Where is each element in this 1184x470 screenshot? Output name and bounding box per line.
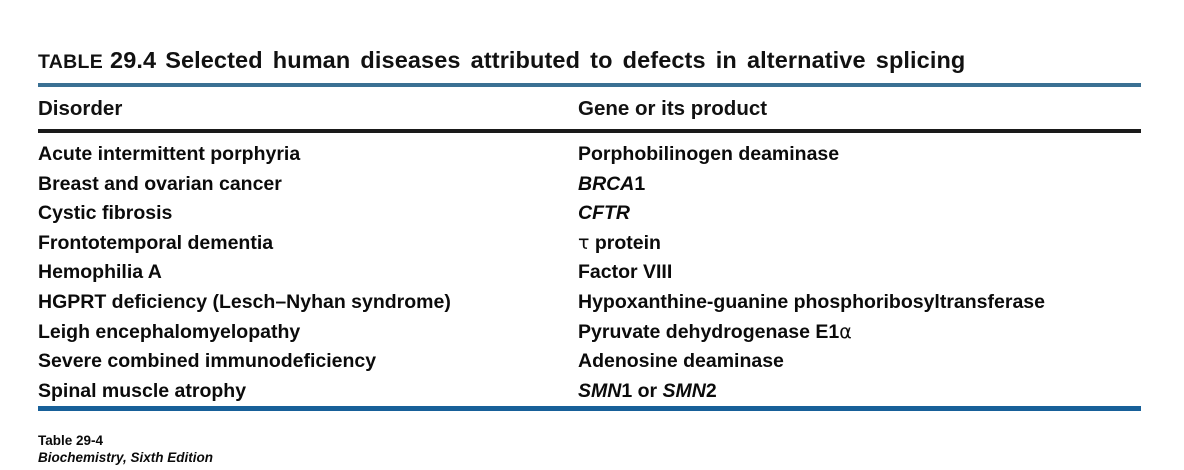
cell-gene-suffix: 2 xyxy=(706,380,717,402)
table-row: Hemophilia A Factor VIII xyxy=(38,260,1141,290)
cell-gene-italic: BRCA xyxy=(578,173,634,195)
figure-caption: Table 29-4 Biochemistry, Sixth Edition xyxy=(38,432,638,466)
cell-gene-plain: Pyruvate dehydrogenase E1α xyxy=(578,321,852,343)
cell-gene-plain: Hypoxanthine-guanine phosphoribosyltrans… xyxy=(578,291,1045,313)
table-column-headers: Disorder Gene or its product xyxy=(38,96,1141,126)
cell-disorder: HGPRT deficiency (Lesch–Nyhan syndrome) xyxy=(38,290,451,315)
cell-gene: CFTR xyxy=(578,201,630,226)
cell-gene-plain: 1 xyxy=(634,173,645,195)
table-row: Frontotemporal dementia τ protein xyxy=(38,231,1141,261)
greek-letter: α xyxy=(839,321,852,343)
table-row: Cystic fibrosis CFTR xyxy=(38,201,1141,231)
cell-gene-plain: Factor VIII xyxy=(578,261,672,283)
cell-gene-italic: SMN xyxy=(578,380,621,402)
rule-header-divider xyxy=(38,129,1141,133)
caption-source: Biochemistry, Sixth Edition xyxy=(38,449,638,466)
column-header-gene: Gene or its product xyxy=(578,96,767,122)
table-row: Severe combined immunodeficiency Adenosi… xyxy=(38,349,1141,379)
table-title-text: Selected human diseases attributed to de… xyxy=(165,47,965,73)
rule-top xyxy=(38,83,1141,87)
cell-disorder: Frontotemporal dementia xyxy=(38,231,273,256)
table-row: HGPRT deficiency (Lesch–Nyhan syndrome) … xyxy=(38,290,1141,320)
table-title: TABLE29.4Selected human diseases attribu… xyxy=(38,45,1148,77)
cell-disorder: Cystic fibrosis xyxy=(38,201,172,226)
cell-disorder: Spinal muscle atrophy xyxy=(38,379,246,404)
cell-gene: Factor VIII xyxy=(578,260,672,285)
cell-gene: Adenosine deaminase xyxy=(578,349,784,374)
cell-gene: Porphobilinogen deaminase xyxy=(578,142,839,167)
caption-table-number: Table 29-4 xyxy=(38,432,638,449)
cell-gene: τ protein xyxy=(578,231,661,256)
cell-gene: Hypoxanthine-guanine phosphoribosyltrans… xyxy=(578,290,1045,315)
cell-gene-plain: τ protein xyxy=(578,232,661,254)
cell-disorder: Leigh encephalomyelopathy xyxy=(38,320,300,345)
cell-gene-italic-2: SMN xyxy=(663,380,706,402)
cell-gene: SMN1 or SMN2 xyxy=(578,379,717,404)
table-body: Acute intermittent porphyria Porphobilin… xyxy=(38,142,1141,408)
column-header-disorder: Disorder xyxy=(38,96,122,122)
table-figure: TABLE29.4Selected human diseases attribu… xyxy=(0,0,1184,470)
cell-gene-plain: Adenosine deaminase xyxy=(578,350,784,372)
rule-bottom xyxy=(38,406,1141,411)
cell-gene: Pyruvate dehydrogenase E1α xyxy=(578,320,852,345)
cell-gene-plain: Porphobilinogen deaminase xyxy=(578,143,839,165)
cell-disorder: Breast and ovarian cancer xyxy=(38,172,282,197)
cell-disorder: Severe combined immunodeficiency xyxy=(38,349,376,374)
cell-disorder: Hemophilia A xyxy=(38,260,162,285)
cell-disorder: Acute intermittent porphyria xyxy=(38,142,300,167)
table-row: Leigh encephalomyelopathy Pyruvate dehyd… xyxy=(38,320,1141,350)
table-title-number: 29.4 xyxy=(110,47,156,73)
cell-gene-italic: CFTR xyxy=(578,202,630,224)
table-row: Acute intermittent porphyria Porphobilin… xyxy=(38,142,1141,172)
greek-letter: τ xyxy=(578,232,589,254)
cell-gene-plain: 1 or xyxy=(621,380,662,402)
table-row: Breast and ovarian cancer BRCA1 xyxy=(38,172,1141,202)
cell-gene: BRCA1 xyxy=(578,172,645,197)
table-row: Spinal muscle atrophy SMN1 or SMN2 xyxy=(38,379,1141,409)
table-title-label: TABLE xyxy=(38,51,103,73)
